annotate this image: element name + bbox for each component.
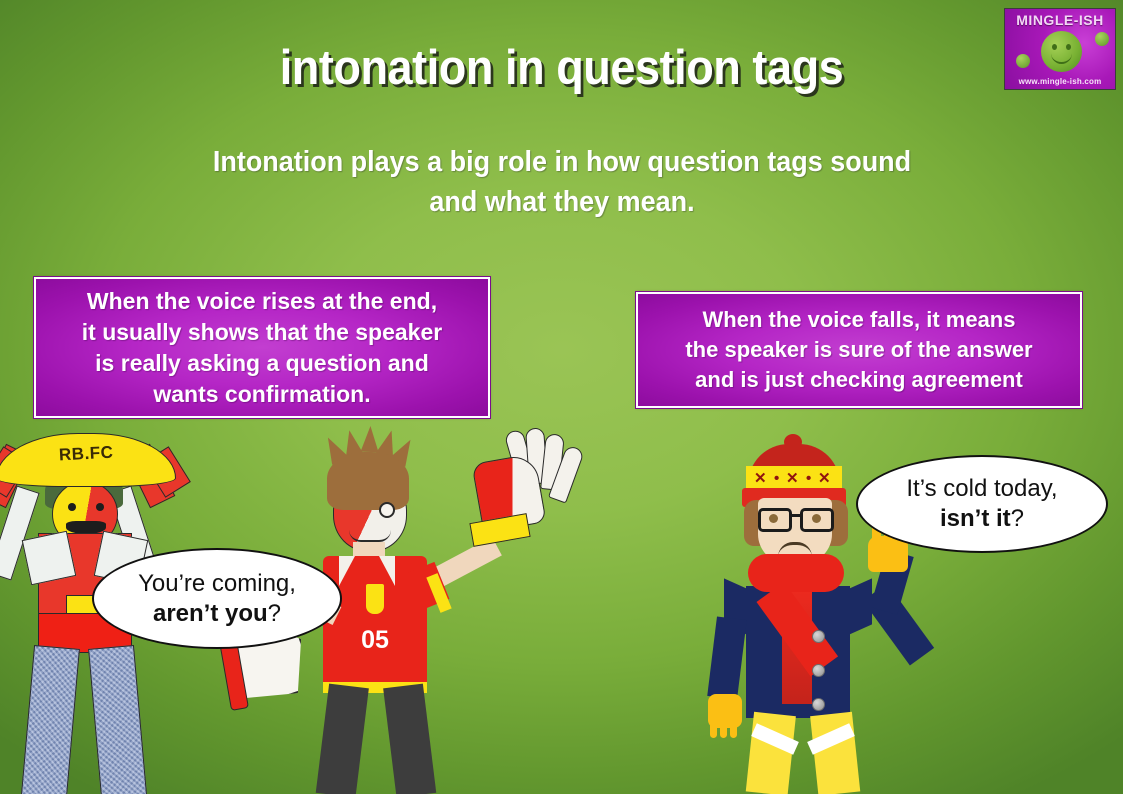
foam-hand-glove-icon	[477, 430, 573, 540]
hat-pattern-x-2: ✕	[786, 472, 799, 486]
slide-canvas: MINGLE-ISH www.mingle-ish.com intonation…	[0, 0, 1123, 794]
glasses-bridge	[790, 514, 802, 517]
speech-bubble-rising: You’re coming, aren’t you?	[92, 548, 342, 649]
hat-pattern-x-1: ✕	[754, 472, 767, 486]
explanation-text-rising: When the voice rises at the end, it usua…	[82, 286, 442, 410]
jersey-fan-collar-left	[339, 556, 355, 586]
falling-line-2: the speaker is sure of the answer	[685, 337, 1032, 362]
scarf-fan-shirt-panel-left	[22, 531, 77, 586]
winter-scarf-wrap	[748, 554, 844, 592]
subtitle-line-1: Intonation plays a big role in how quest…	[212, 146, 910, 178]
winter-man-left-arm	[707, 616, 747, 699]
explanation-box-rising-intonation: When the voice rises at the end, it usua…	[34, 277, 490, 418]
glove-cuff	[469, 513, 530, 547]
logo-small-face-right-icon	[1095, 32, 1109, 46]
falling-line-3: and is just checking agreement	[695, 367, 1023, 392]
jersey-fan-collar-right	[379, 556, 395, 586]
rising-line-3: is really asking a question and	[95, 350, 429, 376]
jersey-fan-hair	[327, 452, 409, 510]
speech-bubble-falling: It’s cold today, isn’t it?	[856, 455, 1108, 553]
scarf-fan-right-eye	[96, 503, 104, 511]
hat-pattern-dot-1: •	[774, 472, 779, 486]
hat-pattern-dot-2: •	[806, 472, 811, 486]
jersey-fan-left-leg	[316, 684, 369, 794]
rising-line-4: wants confirmation.	[153, 381, 370, 407]
bubble-rising-line-2: aren’t you?	[138, 599, 296, 629]
falling-line-1: When the voice falls, it means	[703, 307, 1016, 332]
winter-man-right-leg	[810, 712, 860, 794]
subtitle-line-2: and what they mean.	[429, 186, 694, 218]
bubble-falling-punct: ?	[1011, 505, 1024, 532]
jersey-number: 05	[323, 626, 427, 655]
glasses-icon	[756, 508, 836, 526]
jersey-fan-placket	[366, 584, 384, 614]
bubble-rising-punct: ?	[268, 600, 281, 627]
jersey-fan-mouth	[349, 530, 391, 542]
bubble-rising-line-1: You’re coming,	[138, 569, 296, 599]
bubble-falling-line-2: isn’t it?	[906, 504, 1057, 534]
page-subtitle: Intonation plays a big role in how quest…	[143, 142, 980, 222]
scarf-fan-left-leg	[21, 645, 80, 794]
hat-pattern-x-3: ✕	[818, 472, 831, 486]
coat-button-2	[812, 664, 825, 677]
speech-bubble-rising-text: You’re coming, aren’t you?	[138, 569, 296, 629]
football-scarf: RB.FC	[0, 433, 176, 487]
coat-button-1	[812, 630, 825, 643]
scarf-fan-right-leg	[88, 645, 147, 794]
explanation-box-falling-intonation: When the voice falls, it means the speak…	[636, 292, 1082, 408]
winter-man-left-eye	[769, 514, 778, 523]
bubble-falling-line-1: It’s cold today,	[906, 474, 1057, 504]
jersey-fan-right-leg	[383, 684, 436, 794]
winter-man-left-finger-3	[730, 720, 737, 738]
speech-bubble-falling-text: It’s cold today, isn’t it?	[906, 474, 1057, 534]
rising-line-2: it usually shows that the speaker	[82, 319, 442, 345]
logo-brand-text: MINGLE-ISH	[1005, 12, 1115, 28]
explanation-text-falling: When the voice falls, it means the speak…	[685, 305, 1032, 395]
winter-man-right-eye	[812, 514, 821, 523]
winter-man-left-finger-1	[710, 720, 717, 738]
scarf-fan-left-eye	[68, 503, 76, 511]
bubble-falling-tag: isn’t it	[940, 505, 1011, 532]
coat-button-3	[812, 698, 825, 711]
bubble-rising-tag: aren’t you	[153, 600, 268, 627]
jersey-fan-eye	[379, 502, 395, 518]
page-title: intonation in question tags	[45, 40, 1078, 96]
scarf-team-text: RB.FC	[58, 443, 113, 466]
winter-man-left-finger-2	[720, 720, 727, 738]
rising-line-1: When the voice rises at the end,	[87, 288, 437, 314]
